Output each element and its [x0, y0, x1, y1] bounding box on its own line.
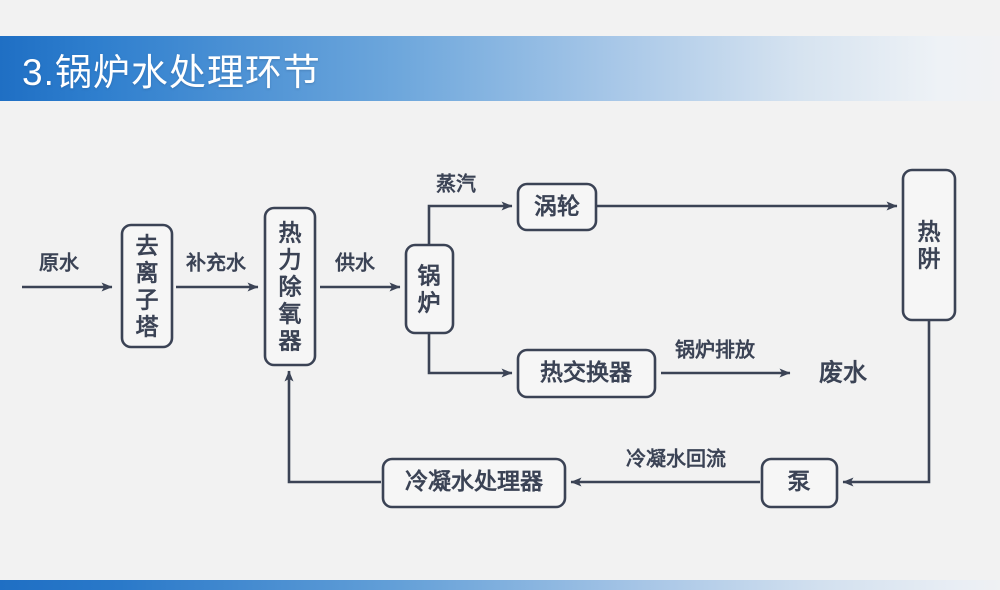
node-deaerator-char-1: 力: [279, 247, 302, 273]
node-boiler-char-1: 炉: [418, 290, 441, 316]
edge-heat-sink-to-pump: [843, 320, 929, 482]
node-boiler[interactable]: 锅炉: [406, 245, 453, 333]
node-pump[interactable]: 泵: [762, 459, 837, 507]
node-heat-exchanger[interactable]: 热交换器: [518, 350, 655, 397]
node-deaerator[interactable]: 热力除氧器: [265, 208, 315, 365]
node-deaerator-char-0: 热: [279, 220, 302, 246]
edge-boiler-to-heat-exchanger: [429, 333, 512, 373]
edge-label-makeup-water: 补充水: [185, 250, 247, 274]
edge-label-steam: 蒸汽: [436, 171, 476, 195]
svg-text:热阱: 热阱: [918, 219, 941, 272]
free-label-wastewater: 废水: [819, 358, 868, 386]
node-heat-sink-char-0: 热: [918, 219, 941, 245]
edge-label-raw-water: 原水: [39, 251, 80, 274]
node-deionizer[interactable]: 去离子塔: [122, 225, 172, 347]
svg-text:去离子塔: 去离子塔: [136, 233, 160, 340]
node-heat-exchanger-label: 热交换器: [540, 359, 633, 385]
node-turbine-label: 涡轮: [534, 193, 580, 219]
node-heat-sink-char-1: 阱: [918, 246, 941, 272]
node-deionizer-char-3: 塔: [136, 314, 160, 340]
node-deionizer-char-0: 去: [136, 233, 159, 259]
svg-text:锅炉: 锅炉: [418, 263, 441, 316]
node-deaerator-char-4: 器: [278, 328, 303, 354]
node-condensate-unit[interactable]: 冷凝水处理器: [383, 459, 565, 507]
svg-text:热力除氧器: 热力除氧器: [278, 220, 303, 354]
edge-boiler-to-turbine: [429, 206, 512, 245]
node-deaerator-char-3: 氧: [278, 301, 302, 327]
title-banner: 3.锅炉水处理环节: [0, 36, 1000, 101]
edge-label-boiler-blowdown: 锅炉排放: [675, 337, 756, 361]
node-boiler-char-0: 锅: [418, 263, 441, 289]
edge-condensate-unit-to-deaerator: [289, 371, 381, 482]
node-condensate-unit-label: 冷凝水处理器: [405, 468, 544, 494]
edge-label-feed-water: 供水: [334, 250, 376, 274]
node-turbine[interactable]: 涡轮: [518, 184, 596, 230]
node-deionizer-char-1: 离: [136, 260, 159, 286]
edge-label-condensate-return: 冷凝水回流: [626, 446, 726, 470]
boiler-water-treatment-flowchart: 去离子塔 热力除氧器 锅炉 涡轮 热交换器: [0, 101, 1000, 580]
node-deaerator-char-2: 除: [279, 274, 303, 300]
node-deionizer-char-2: 子: [136, 287, 159, 313]
node-heat-sink[interactable]: 热阱: [903, 170, 955, 320]
footer-bar: [0, 580, 1000, 590]
page-title: 3.锅炉水处理环节: [22, 42, 321, 96]
slide-page: 3.锅炉水处理环节: [0, 0, 1000, 590]
node-pump-label: 泵: [788, 468, 811, 494]
